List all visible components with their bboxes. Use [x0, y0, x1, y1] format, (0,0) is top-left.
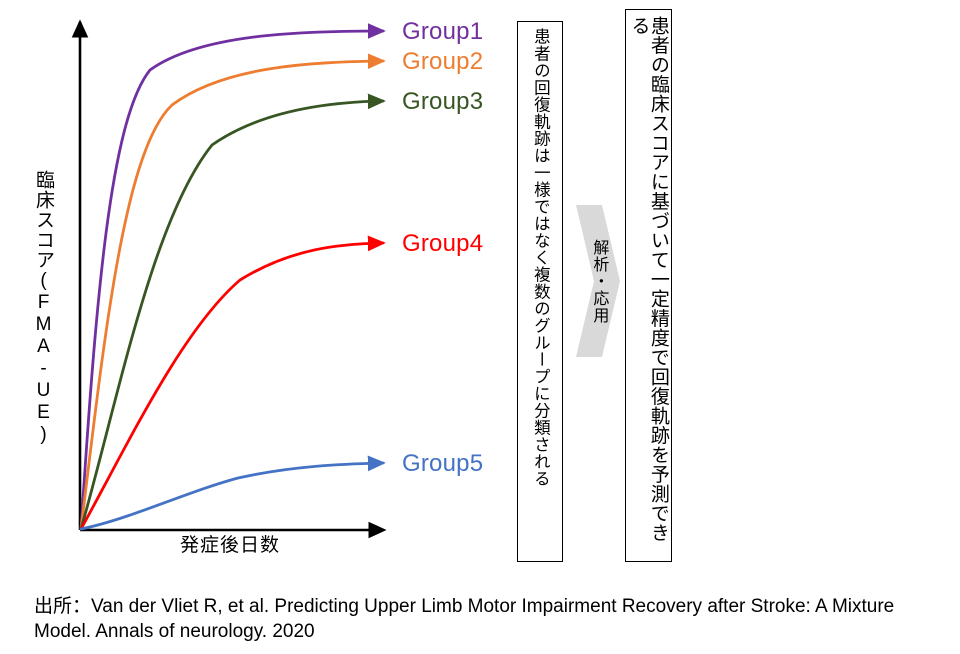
- slide-canvas: 臨床スコア(FMA-UE) 発症後日数 Group1 Group2 Group3…: [0, 0, 960, 654]
- y-axis-label: 臨床スコア(FMA-UE): [34, 170, 53, 446]
- callout-box-application-text: 患者の臨床スコアに基づいて一定精度で回復軌跡を予測できる: [629, 10, 668, 561]
- legend-label-group3: Group3: [402, 88, 483, 116]
- chart-axes: [80, 22, 384, 530]
- legend-label-group2: Group2: [402, 48, 483, 76]
- recovery-trajectory-chart: [0, 0, 520, 580]
- citation-text: 出所：Van der Vliet R, et al. Predicting Up…: [34, 594, 934, 644]
- legend-label-group5: Group5: [402, 450, 483, 478]
- callout-box-findings: 患者の回復軌跡は一様ではなく複数のグループに分類される: [517, 21, 563, 562]
- curve-group2: [81, 61, 383, 529]
- curve-group4: [81, 243, 383, 529]
- callout-box-application: 患者の臨床スコアに基づいて一定精度で回復軌跡を予測できる: [625, 9, 672, 562]
- curve-group5: [81, 463, 383, 529]
- legend-label-group1: Group1: [402, 18, 483, 46]
- process-arrow: 解析・応用: [576, 205, 620, 357]
- process-arrow-label-wrap: 解析・応用: [576, 205, 620, 357]
- curve-group1: [81, 31, 383, 529]
- process-arrow-label: 解析・応用: [590, 239, 607, 324]
- x-axis-label: 発症後日数: [180, 530, 280, 557]
- legend-label-group4: Group4: [402, 230, 483, 258]
- callout-box-findings-text: 患者の回復軌跡は一様ではなく複数のグループに分類される: [532, 22, 549, 487]
